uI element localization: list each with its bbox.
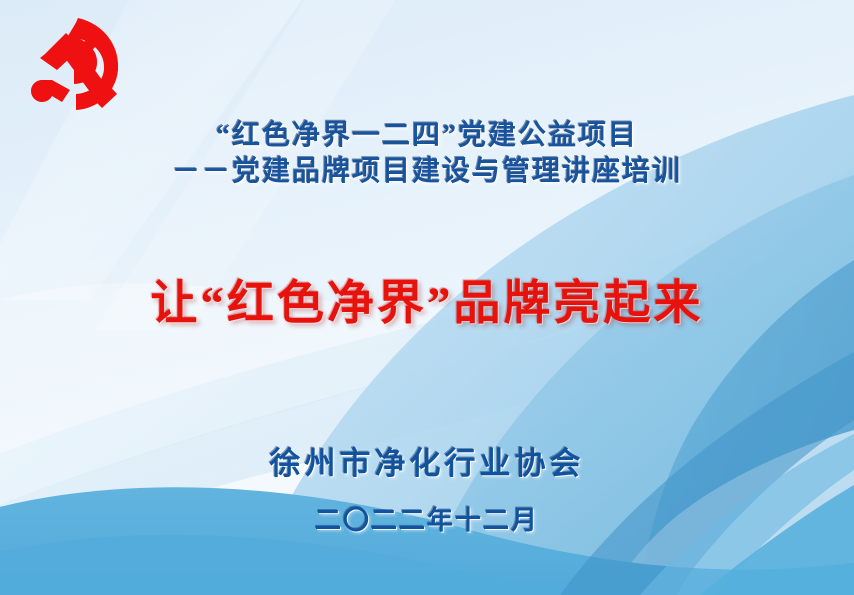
- subtitle-block: “红色净界一二四”党建公益项目 －－党建品牌项目建设与管理讲座培训: [0, 118, 854, 190]
- cpc-hammer-sickle-emblem-icon: [18, 14, 124, 116]
- subtitle-line-2: －－党建品牌项目建设与管理讲座培训: [0, 154, 854, 190]
- subtitle-line-1: “红色净界一二四”党建公益项目: [0, 118, 854, 154]
- organization-block: 徐州市净化行业协会 二〇二二年十二月: [0, 438, 854, 537]
- slide-headline: 让“红色净界”品牌亮起来: [0, 264, 854, 333]
- presentation-date: 二〇二二年十二月: [0, 500, 854, 537]
- organization-name: 徐州市净化行业协会: [0, 438, 854, 483]
- presentation-title-slide: “红色净界一二四”党建公益项目 －－党建品牌项目建设与管理讲座培训 让“红色净界…: [0, 0, 854, 595]
